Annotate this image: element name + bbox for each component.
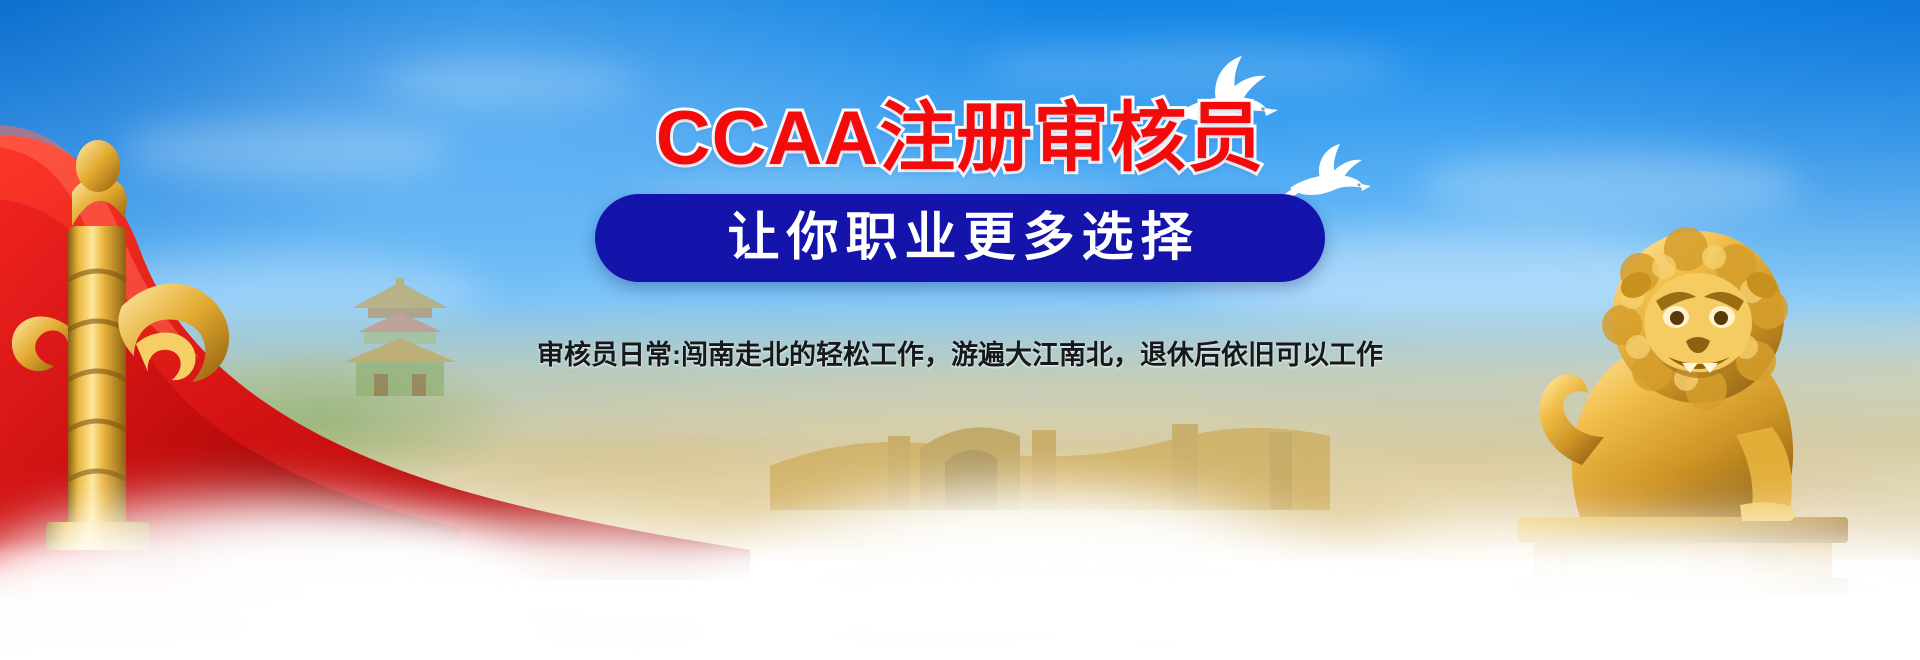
gold-huabiao-pillar xyxy=(10,130,240,550)
dove-icon xyxy=(1160,52,1280,142)
dove-icon xyxy=(1278,140,1370,212)
cloud-wisp xyxy=(380,60,640,104)
ccaa-auditor-banner: CCAA注册审核员 让你职业更多选择 审核员日常:闯南走北的轻松工作，游遍大江南… xyxy=(0,0,1920,660)
gold-guardian-lion xyxy=(1500,165,1900,595)
